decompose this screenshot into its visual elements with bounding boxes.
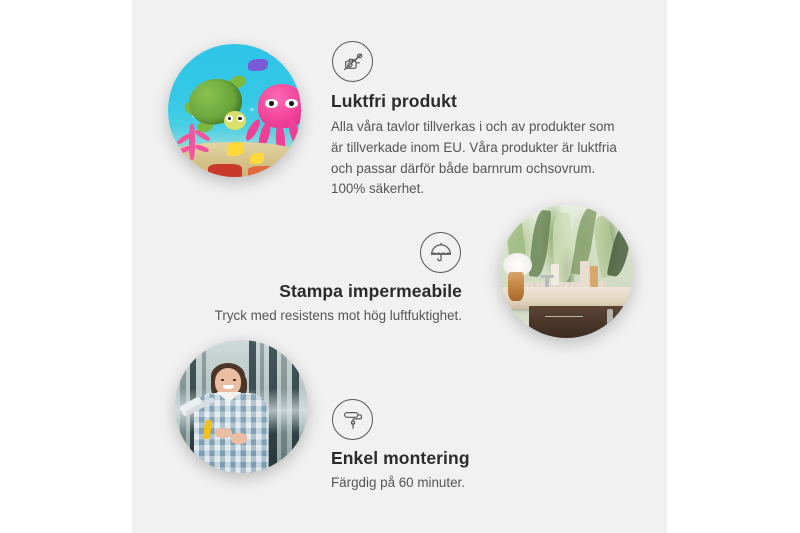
no-odour-spray-bottle-icon (332, 41, 373, 82)
feature-easy-mount-text: Färgdig på 60 minuter. (331, 473, 581, 494)
feature-odourless-title: Luktfri produkt (331, 91, 629, 112)
feature-waterproof-icon-wrap (168, 232, 462, 281)
paint-roller-icon (332, 399, 373, 440)
decorator-forest-wallpaper-thumbnail[interactable] (175, 340, 308, 473)
feature-waterproof: Stampa impermeabile Tryck med resistens … (168, 232, 462, 327)
feature-easy-mount-title: Enkel montering (331, 448, 581, 469)
umbrella-icon (420, 232, 461, 273)
underwater-scene-art (168, 44, 301, 177)
bathroom-scene-art (500, 205, 633, 338)
feature-easy-mount: Enkel montering Färgdig på 60 minuter. (331, 399, 581, 494)
underwater-cartoon-wallpaper-thumbnail[interactable] (168, 44, 301, 177)
bathroom-leaf-wallpaper-thumbnail[interactable] (500, 205, 633, 338)
feature-waterproof-title: Stampa impermeabile (168, 281, 462, 302)
promo-banner: Luktfri produkt Alla våra tavlor tillver… (0, 0, 800, 533)
feature-easy-mount-icon-wrap (331, 399, 581, 440)
feature-odourless: Luktfri produkt Alla våra tavlor tillver… (331, 41, 629, 200)
feature-odourless-text: Alla våra tavlor tillverkas i och av pro… (331, 117, 629, 200)
forest-scene-art (175, 340, 308, 473)
coral-shape (173, 121, 216, 166)
feature-waterproof-text: Tryck med resistens mot hög luftfuktighe… (168, 306, 462, 327)
feature-odourless-icon-wrap (331, 41, 629, 82)
